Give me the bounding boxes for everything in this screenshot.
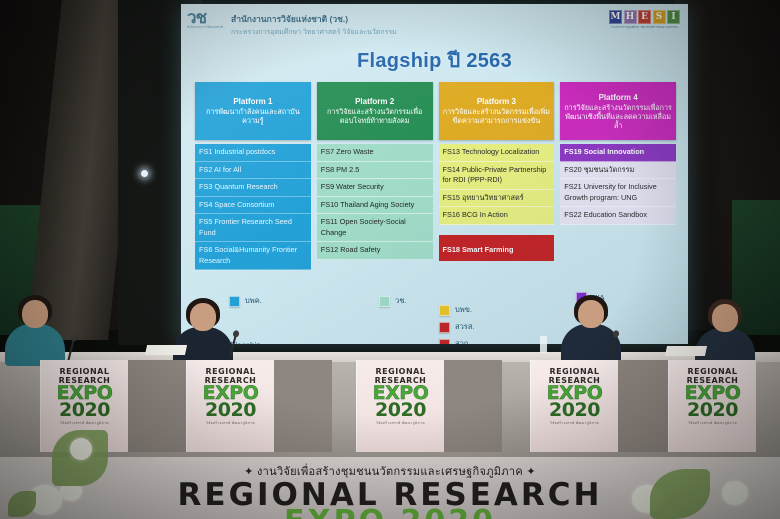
legend-label: บพค. xyxy=(245,295,262,307)
table-gap-panel-3 xyxy=(444,360,502,452)
podium-panel-4: REGIONALRESEARCHEXPO2020วิจัยสร้างสรรค์ … xyxy=(530,360,618,452)
flagship-item: FS4 Space Consortium xyxy=(195,197,311,215)
mhesi-subtitle: กระทรวงการอุดมศึกษา วิทยาศาสตร์ วิจัยและ… xyxy=(609,26,680,29)
nrct-logo-sub: สำนักงานการวิจัยแห่งชาติ xyxy=(187,26,227,30)
platform-header-number: Platform 3 xyxy=(443,97,551,106)
flagship-item: FS5 Frontier Research Seed Fund xyxy=(195,214,311,242)
podium-panel-2: REGIONALRESEARCHEXPO2020วิจัยสร้างสรรค์ … xyxy=(186,360,274,452)
flagship-item: FS19 Social Innovation xyxy=(560,144,676,162)
flagship-item: FS12 Road Safety xyxy=(317,242,433,260)
platform-column-3: Platform 3การวิจัยและสร้างนวัตกรรมเพื่อเ… xyxy=(439,82,555,261)
mhesi-logo-icon: MHESI กระทรวงการอุดมศึกษา วิทยาศาสตร์ วิ… xyxy=(609,10,680,29)
legend-label: สวรส. xyxy=(455,321,474,333)
podium-panel-5: REGIONALRESEARCHEXPO2020วิจัยสร้างสรรค์ … xyxy=(668,360,756,452)
platform-header-1: Platform 1การพัฒนากำลังคนและสถาบันความรู… xyxy=(195,82,311,140)
table-gap-panel-2 xyxy=(274,360,332,452)
legend-color-swatch xyxy=(439,339,450,345)
platform-header-2: Platform 2การวิจัยและสร้างนวัตกรรมเพื่อต… xyxy=(317,82,433,140)
projected-slide: วช สำนักงานการวิจัยแห่งชาติ สำนักงานการว… xyxy=(181,4,688,344)
nrct-logo-icon: วช สำนักงานการวิจัยแห่งชาติ xyxy=(187,11,227,39)
organization-name: สำนักงานการวิจัยแห่งชาติ (วช.) กระทรวงกา… xyxy=(231,12,397,38)
legend-group-a: บพค. xyxy=(229,295,262,307)
mhesi-letter-h: H xyxy=(624,10,637,24)
podium-year-text: 2020 xyxy=(205,402,256,419)
legend-entry: บพข. xyxy=(439,304,474,316)
table-gap-panel-1 xyxy=(128,360,186,452)
flagship-item: FS6 Social&Humanity Frontier Research xyxy=(195,242,311,270)
flagship-item: FS16 BCG In Action xyxy=(439,207,555,225)
org-name-line2: กระทรวงการอุดมศึกษา วิทยาศาสตร์ วิจัยและ… xyxy=(231,27,397,38)
podium-year-text: 2020 xyxy=(549,402,600,419)
light-spot xyxy=(141,170,148,177)
legend-color-swatch xyxy=(439,322,450,333)
flower-decoration xyxy=(722,481,748,505)
legend-label: สวก. xyxy=(455,338,470,344)
podium-tagline: วิจัยสร้างสรรค์ พัฒนาภูมิภาค xyxy=(376,421,425,426)
platform-header-4: Platform 4การวิจัยและสร้างนวัตกรรมเพื่อก… xyxy=(560,82,676,140)
podium-tagline: วิจัยสร้างสรรค์ พัฒนาภูมิภาค xyxy=(688,421,737,426)
legend-entry: บพค. xyxy=(229,295,262,307)
flagship-item: FS22 Education Sandbox xyxy=(560,207,676,225)
podium-line-1: REGIONAL xyxy=(550,367,600,376)
flagship-item: FS18 Smart Farming xyxy=(439,235,555,262)
platform-header-number: Platform 4 xyxy=(564,93,672,102)
mhesi-letter-i: I xyxy=(667,10,680,24)
platform-header-number: Platform 1 xyxy=(199,97,307,106)
platform-column-4: Platform 4การวิจัยและสร้างนวัตกรรมเพื่อก… xyxy=(560,82,676,225)
legend-group-c: บพข.สวรส.สวก. xyxy=(439,304,474,344)
stage-scene: วช สำนักงานการวิจัยแห่งชาติ สำนักงานการว… xyxy=(0,0,780,519)
podium-year-text: 2020 xyxy=(687,402,738,419)
document-papers xyxy=(145,345,187,355)
org-name-line1: สำนักงานการวิจัยแห่งชาติ (วช.) xyxy=(231,12,397,26)
platform-item-list-2: FS7 Zero WasteFS8 PM 2.5FS9 Water Securi… xyxy=(317,144,433,260)
nrct-logo-mark: วช xyxy=(187,11,227,26)
podium-tagline: วิจัยสร้างสรรค์ พัฒนาภูมิภาค xyxy=(206,421,255,426)
document-papers-2 xyxy=(665,346,707,356)
foreground-flower xyxy=(70,438,92,460)
podium-year-text: 2020 xyxy=(59,402,110,419)
podium-year-text: 2020 xyxy=(375,402,426,419)
podium-tagline: วิจัยสร้างสรรค์ พัฒนาภูมิภาค xyxy=(60,421,109,426)
panelist-4-head xyxy=(712,304,738,332)
platform-column-2: Platform 2การวิจัยและสร้างนวัตกรรมเพื่อต… xyxy=(317,82,433,260)
mhesi-letter-m: M xyxy=(609,10,622,24)
flagship-item: FS10 Thailand Aging Society xyxy=(317,197,433,215)
podium-panel-3: REGIONALRESEARCHEXPO2020วิจัยสร้างสรรค์ … xyxy=(356,360,444,452)
podium-line-1: REGIONAL xyxy=(60,367,110,376)
platform-header-3: Platform 3การวิจัยและสร้างนวัตกรรมเพื่อเ… xyxy=(439,82,555,140)
legend-group-b: วช. xyxy=(379,295,406,307)
legend-label: วช. xyxy=(395,295,406,307)
flagship-item: FS15 อุทยานวิทยาศาสตร์ xyxy=(439,190,555,208)
panelist-1 xyxy=(22,300,65,366)
legend-color-swatch xyxy=(439,305,450,316)
mhesi-letter-s: S xyxy=(653,10,666,24)
flagship-item: FS11 Open Society-Social Change xyxy=(317,214,433,242)
legend-entry: สวรส. xyxy=(439,321,474,333)
platform-header-thai: การวิจัยและสร้างนวัตกรรมเพื่อตอบโจทย์ท้า… xyxy=(321,107,429,125)
platform-header-number: Platform 2 xyxy=(321,97,429,106)
platform-columns: Platform 1การพัฒนากำลังคนและสถาบันความรู… xyxy=(181,76,688,270)
platform-item-list-3: FS13 Technology LocalizationFS14 Public-… xyxy=(439,144,555,261)
platform-column-1: Platform 1การพัฒนากำลังคนและสถาบันความรู… xyxy=(195,82,311,270)
flagship-item: FS8 PM 2.5 xyxy=(317,162,433,180)
legend-entry: วช. xyxy=(379,295,406,307)
flagship-item: FS2 AI for All xyxy=(195,162,311,180)
platform-header-thai: การวิจัยและสร้างนวัตกรรมเพื่อเพิ่มขีดควา… xyxy=(443,107,551,125)
flagship-item: FS20 ชุมชนนวัตกรรม xyxy=(560,162,676,180)
panelist-2-head xyxy=(190,303,216,331)
podium-line-1: REGIONAL xyxy=(376,367,426,376)
legend-color-swatch xyxy=(379,296,390,307)
platform-item-list-1: FS1 Industrial postdocsFS2 AI for AllFS3… xyxy=(195,144,311,270)
flagship-item: FS13 Technology Localization xyxy=(439,144,555,162)
platform-header-thai: การวิจัยและสร้างนวัตกรรมเพื่อการพัฒนาเชิ… xyxy=(564,103,672,130)
podium-line-1: REGIONAL xyxy=(206,367,256,376)
flagship-item: FS14 Public-Private Partnership for RDI … xyxy=(439,162,555,190)
flagship-item: FS7 Zero Waste xyxy=(317,144,433,162)
water-bottle xyxy=(540,336,547,353)
slide-header: วช สำนักงานการวิจัยแห่งชาติ สำนักงานการว… xyxy=(181,4,688,46)
mhesi-letter-e: E xyxy=(638,10,651,24)
panelist-1-head xyxy=(22,300,48,328)
platform-header-thai: การพัฒนากำลังคนและสถาบันความรู้ xyxy=(199,107,307,125)
slide-title: Flagship ปี 2563 xyxy=(181,44,688,76)
legend-label: บพข. xyxy=(455,304,472,316)
flagship-item: FS9 Water Security xyxy=(317,179,433,197)
podium-line-1: REGIONAL xyxy=(688,367,738,376)
legend-entry: สวก. xyxy=(439,338,474,344)
mhesi-letter-row: MHESI xyxy=(609,10,680,24)
podium-tagline: วิจัยสร้างสรรค์ พัฒนาภูมิภาค xyxy=(550,421,599,426)
panelist-3-head xyxy=(578,300,604,328)
flagship-item: FS3 Quantum Research xyxy=(195,179,311,197)
flagship-item: FS21 University for Inclusive Growth pro… xyxy=(560,179,676,207)
stage-front-banner: ✦ งานวิจัยเพื่อสร้างชุมชนนวัตกรรมและเศรษ… xyxy=(0,457,780,519)
flagship-item: FS1 Industrial postdocs xyxy=(195,144,311,162)
platform-item-list-4: FS19 Social InnovationFS20 ชุมชนนวัตกรรม… xyxy=(560,144,676,225)
